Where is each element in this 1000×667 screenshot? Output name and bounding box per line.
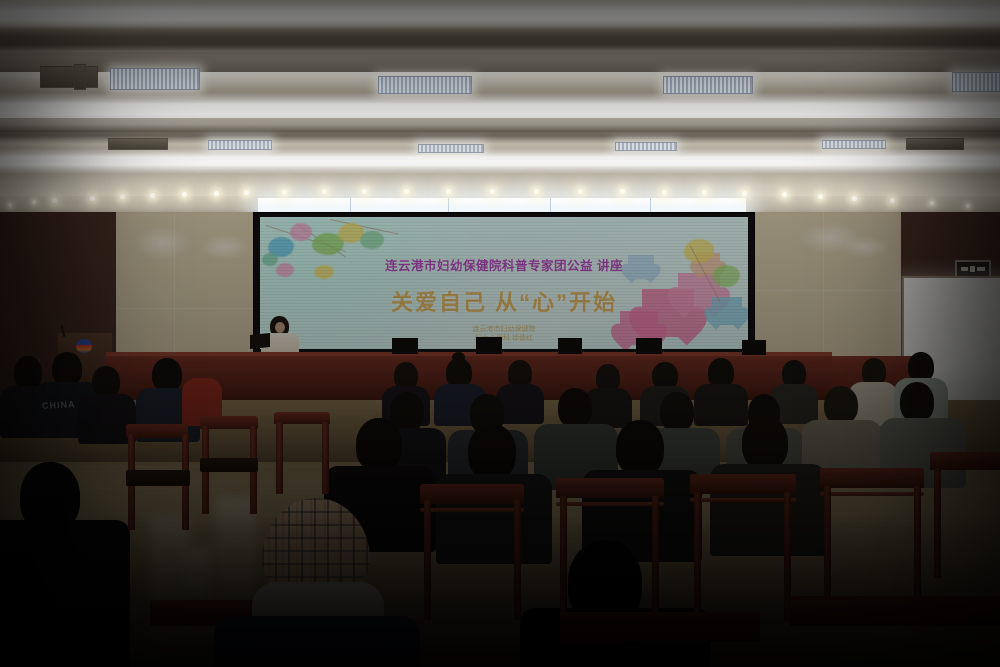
ceiling-vent — [108, 138, 168, 150]
ceiling-grille-light — [615, 142, 677, 151]
ceiling — [0, 0, 1000, 212]
ceiling-grille-light — [663, 76, 753, 94]
watercolor-blob — [360, 231, 384, 249]
watercolor-blob — [290, 223, 312, 241]
ceiling-grille-light — [952, 72, 1000, 92]
chair-leg — [560, 496, 567, 622]
chair-rail — [556, 502, 664, 506]
hair-bun — [452, 352, 465, 363]
chair-back — [790, 596, 1000, 626]
speaker-face — [275, 322, 285, 333]
chair-back — [556, 478, 664, 498]
ceiling-vent — [74, 64, 86, 90]
ceiling-vent — [906, 138, 964, 150]
laptop-icon — [250, 333, 270, 349]
desk-monitor — [476, 337, 502, 354]
chair-leg — [424, 500, 431, 620]
chair-back — [690, 474, 796, 494]
chair-back — [560, 612, 760, 642]
slide-title-line2: 关爱自己 从“心”开始 — [260, 285, 748, 317]
jacket-text: CHINA — [42, 399, 76, 411]
chair-back — [820, 468, 924, 488]
chair-leg — [322, 422, 329, 494]
chair-rail — [820, 492, 924, 496]
slide-content: 连云港市妇幼保健院科普专家团公益 讲座 关爱自己 从“心”开始 连云港市妇幼保健… — [260, 217, 748, 349]
audience-head — [52, 352, 82, 386]
slide-subtitle: 连云港市妇幼保健院 妇女心理科 徐倩红 — [260, 325, 748, 343]
chair-leg — [652, 496, 659, 622]
ceiling-grille-light — [208, 140, 272, 150]
audience-head — [660, 392, 694, 432]
audience-body — [694, 384, 748, 426]
ceiling-grille-light — [418, 144, 484, 153]
lecture-hall-photo: 连云港市妇幼保健院科普专家团公益 讲座 关爱自己 从“心”开始 连云港市妇幼保健… — [0, 0, 1000, 667]
chair-back — [126, 424, 188, 438]
ceiling-vent — [40, 66, 98, 88]
audience-head — [152, 358, 182, 392]
podium-emblem-icon — [76, 339, 92, 353]
led-presentation-screen: 连云港市妇幼保健院科普专家团公益 讲座 关爱自己 从“心”开始 连云港市妇幼保健… — [253, 212, 755, 354]
chair-rail — [690, 498, 796, 502]
slide-title-line1: 连云港市妇幼保健院科普专家团公益 讲座 — [260, 255, 748, 274]
chair-leg — [276, 422, 283, 494]
audience-head — [900, 382, 934, 422]
chair-seat — [126, 470, 190, 486]
chair-back — [420, 484, 524, 504]
chair-rail — [420, 508, 524, 512]
desk-monitor — [636, 338, 662, 354]
audience-body — [0, 520, 130, 667]
desk-monitor — [392, 338, 418, 354]
chair-leg — [934, 468, 941, 578]
ceiling-grille-light — [822, 140, 886, 149]
audience-head — [616, 420, 664, 476]
ceiling-grille-light — [378, 76, 472, 94]
jacket-body — [214, 616, 420, 667]
chair-leg — [694, 492, 701, 622]
slide-subtitle-org: 连云港市妇幼保健院 — [260, 325, 748, 334]
audience-head — [558, 388, 592, 428]
audience-head — [356, 418, 402, 472]
desk-monitor — [558, 338, 582, 354]
desk-monitor — [742, 340, 766, 355]
audience-head — [742, 416, 788, 470]
audience-head — [468, 424, 516, 480]
audience-head — [824, 386, 858, 424]
slide-subtitle-presenter: 妇女心理科 徐倩红 — [260, 334, 748, 343]
chair-leg — [514, 500, 521, 620]
chair-seat — [200, 458, 258, 472]
ceiling-grille-light — [110, 68, 200, 90]
